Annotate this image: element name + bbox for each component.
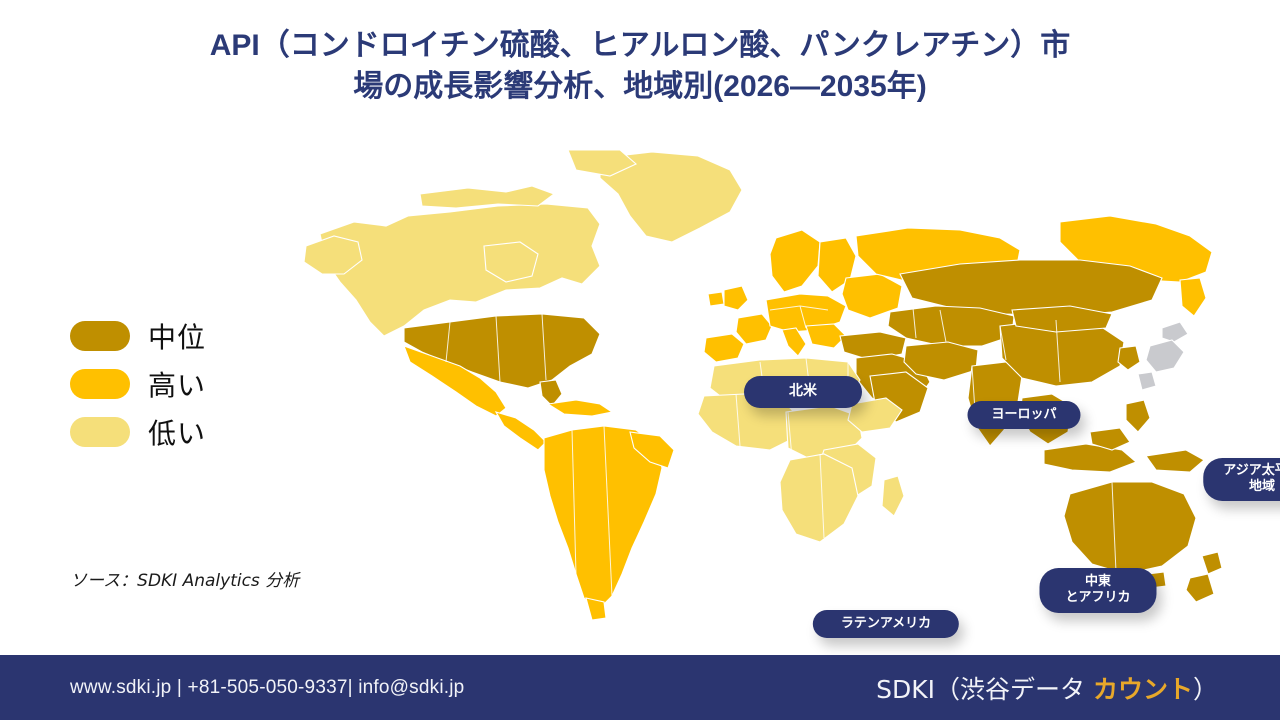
region-korea-se [1118, 346, 1140, 370]
legend-label-medium: 中位 [148, 316, 206, 356]
region-southern-africa [780, 454, 858, 542]
region-sa-south-tip [586, 598, 606, 620]
source-note: ソース：SDKI Analytics 分析 [70, 566, 299, 591]
region-ireland [708, 292, 724, 306]
region-philippines [1126, 400, 1150, 432]
region-france [736, 314, 772, 344]
region-new-zealand-n [1202, 552, 1222, 574]
legend-label-low: 低い [148, 412, 206, 452]
region-japan-hokkaido [1162, 322, 1188, 342]
marker-label-line-1: ヨーロッパ [991, 407, 1056, 423]
region-kamchatka [1180, 278, 1206, 316]
map-marker-label-latin-america: ラテンアメリカ [813, 610, 959, 638]
legend-swatch-low [70, 417, 130, 447]
legend-label-high: 高い [148, 364, 206, 404]
title-line-1: API（コンドロイチン硫酸、ヒアルロン酸、パンクレアチン）市 [60, 26, 1220, 67]
world-map: .low{fill:#f5df7a;stroke:#ffffff;stroke-… [300, 150, 1225, 625]
marker-label-line-1: 北米 [789, 383, 817, 401]
region-indonesia [1044, 444, 1136, 472]
map-marker-label-europe: ヨーロッパ [967, 401, 1080, 429]
region-new-zealand-s [1186, 574, 1214, 602]
region-madagascar [882, 476, 904, 516]
marker-label-line-1: ラテンアメリカ [841, 616, 931, 632]
footer-brand: SDKI（渋谷データ カウント） [876, 670, 1218, 706]
marker-label-line-2: とアフリカ [1065, 590, 1130, 606]
footer-contact[interactable]: www.sdki.jp | +81-505-050-9337| info@sdk… [70, 677, 464, 699]
map-marker-label-asia-pacific: アジア太平洋 地域 [1203, 458, 1280, 501]
legend-swatch-medium [70, 321, 130, 351]
footer-brand-suffix: ） [1193, 675, 1218, 704]
map-marker-label-middle-east-africa: 中東 とアフリカ [1039, 568, 1156, 613]
region-scandinavia [770, 230, 820, 292]
slide-root: API（コンドロイチン硫酸、ヒアルロン酸、パンクレアチン）市 場の成長影響分析、… [0, 0, 1280, 720]
region-central-asia [888, 306, 1014, 346]
region-uk [724, 286, 748, 310]
legend-swatch-high [70, 369, 130, 399]
marker-label-line-2: 地域 [1223, 479, 1280, 495]
region-australia [1064, 482, 1196, 574]
legend-item-low: 低い [70, 408, 206, 456]
footer-brand-prefix: SDKI（渋谷データ [876, 675, 1093, 704]
region-new-guinea [1146, 450, 1204, 472]
region-central-america [496, 412, 546, 450]
region-iberia [704, 334, 744, 362]
region-italy [782, 328, 806, 356]
map-marker-label-north-america: 北米 [744, 376, 862, 408]
legend-item-medium: 中位 [70, 312, 206, 360]
legend-item-high: 高い [70, 360, 206, 408]
footer-brand-accent: カウント [1093, 675, 1193, 704]
title-line-2: 場の成長影響分析、地域別(2026—2035年) [60, 67, 1220, 108]
region-caribbean [548, 400, 612, 416]
region-japan-honshu [1146, 340, 1184, 372]
page-title: API（コンドロイチン硫酸、ヒアルロン酸、パンクレアチン）市 場の成長影響分析、… [60, 26, 1220, 107]
region-canada-arctic-isles [420, 186, 554, 208]
map-legend: 中位 高い 低い [70, 312, 206, 456]
marker-label-line-1: 中東 [1065, 574, 1130, 590]
marker-label-line-1: アジア太平洋 [1223, 463, 1280, 479]
region-japan-kyushu [1138, 372, 1156, 390]
footer-bar: www.sdki.jp | +81-505-050-9337| info@sdk… [0, 655, 1280, 720]
